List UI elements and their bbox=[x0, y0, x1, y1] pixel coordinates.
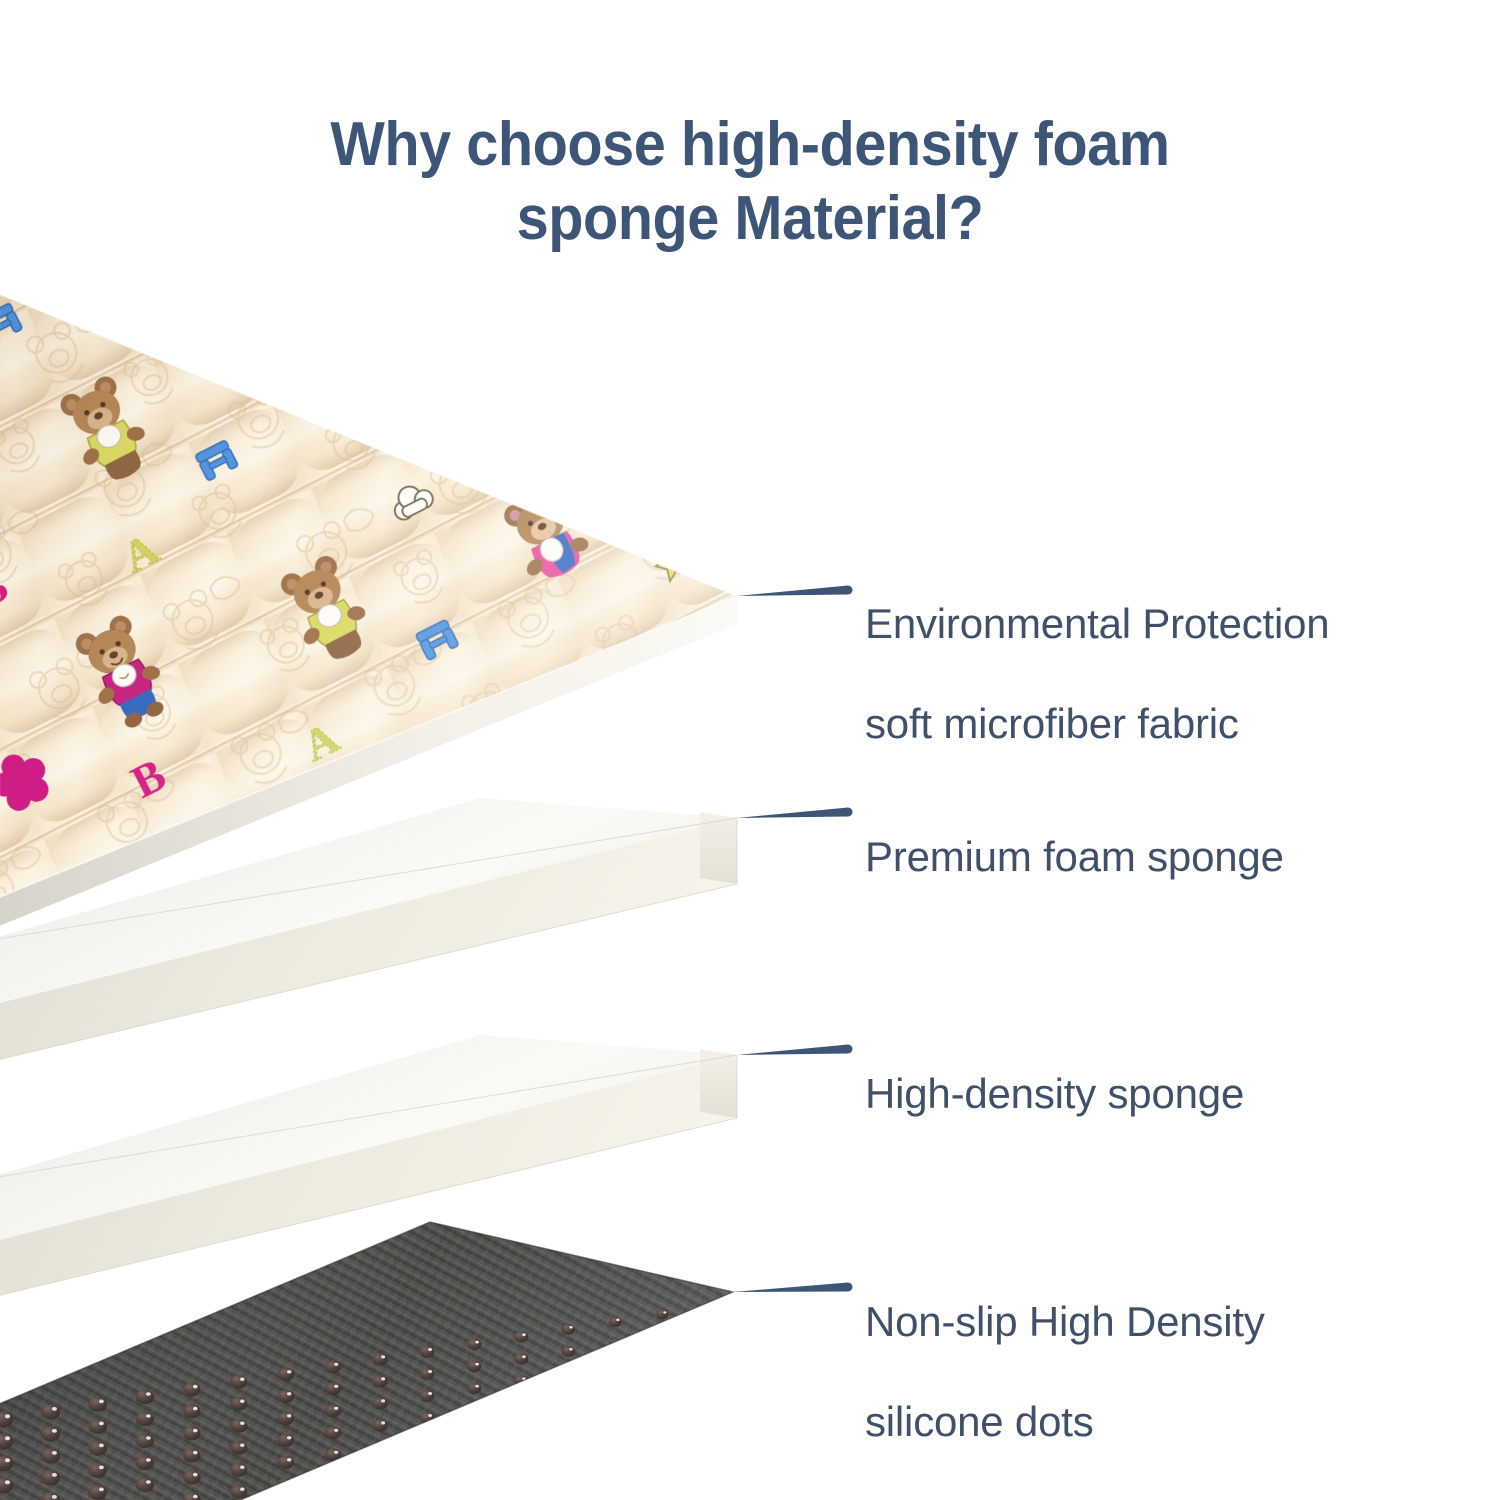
silicone-dot-highlight bbox=[5, 1414, 10, 1418]
leader-line-cap-fabric bbox=[844, 586, 853, 595]
silicone-dot bbox=[562, 1434, 575, 1445]
silicone-dot-highlight bbox=[616, 1319, 619, 1322]
silicone-dot-highlight bbox=[710, 1304, 713, 1306]
callout-line: silicone dots bbox=[865, 1397, 1265, 1447]
silicone-dot bbox=[420, 1390, 435, 1402]
silicone-dot-highlight bbox=[616, 1429, 619, 1432]
silicone-dot bbox=[88, 1485, 107, 1500]
silicone-dot bbox=[230, 1485, 247, 1499]
silicone-dot-highlight bbox=[475, 1341, 479, 1344]
silicone-dot-highlight bbox=[334, 1495, 338, 1498]
silicone-dot-highlight bbox=[5, 1480, 10, 1484]
silicone-dot bbox=[278, 1478, 295, 1491]
silicone-dot bbox=[609, 1317, 622, 1327]
silicone-dot-highlight bbox=[240, 1378, 244, 1381]
silicone-dot bbox=[562, 1412, 575, 1423]
silicone-dot bbox=[183, 1426, 201, 1440]
silicone-dot-highlight bbox=[475, 1363, 479, 1366]
silicone-dot bbox=[420, 1368, 435, 1380]
silicone-dot bbox=[278, 1456, 295, 1469]
silicone-dot bbox=[467, 1383, 481, 1395]
callout-line: soft microfiber fabric bbox=[865, 699, 1329, 749]
silicone-dot-highlight bbox=[381, 1465, 385, 1468]
silicone-dot bbox=[88, 1441, 107, 1456]
silicone-dot bbox=[183, 1382, 201, 1396]
silicone-dot bbox=[467, 1339, 481, 1351]
silicone-dot bbox=[656, 1353, 668, 1363]
silicone-dot-highlight bbox=[381, 1355, 385, 1358]
silicone-dot bbox=[230, 1419, 247, 1433]
silicone-dot-highlight bbox=[193, 1385, 198, 1389]
silicone-dot bbox=[230, 1375, 247, 1389]
silicone-dot-highlight bbox=[428, 1436, 432, 1439]
silicone-dot-highlight bbox=[710, 1480, 713, 1482]
callout-label-silicone-dots: Non-slip High Density silicone dots bbox=[865, 1247, 1265, 1497]
silicone-dot-highlight bbox=[569, 1370, 572, 1373]
silicone-dot-highlight bbox=[475, 1385, 479, 1388]
silicone-dot bbox=[514, 1463, 528, 1474]
silicone-dot-highlight bbox=[52, 1451, 57, 1455]
leader-line-cap-silicone-dots bbox=[844, 1283, 853, 1292]
silicone-dot bbox=[136, 1412, 154, 1427]
silicone-dot bbox=[372, 1485, 388, 1497]
callout-label-microfiber-fabric: Environmental Protection soft microfiber… bbox=[865, 549, 1329, 799]
silicone-dot-highlight bbox=[428, 1370, 432, 1373]
silicone-dot bbox=[704, 1368, 716, 1377]
silicone-dot-highlight bbox=[287, 1414, 291, 1417]
silicone-dot bbox=[88, 1397, 107, 1412]
silicone-dot bbox=[420, 1412, 435, 1424]
silicone-dot bbox=[88, 1419, 107, 1434]
silicone-dot bbox=[514, 1419, 528, 1430]
leader-line-cap-high-density-foam bbox=[844, 1045, 853, 1054]
silicone-dot bbox=[609, 1471, 622, 1481]
silicone-dot bbox=[325, 1426, 341, 1439]
silicone-dot bbox=[136, 1434, 154, 1449]
silicone-dot-highlight bbox=[381, 1421, 385, 1424]
silicone-dot bbox=[704, 1390, 716, 1399]
silicone-dot-highlight bbox=[710, 1348, 713, 1350]
silicone-dot-highlight bbox=[52, 1473, 57, 1477]
leader-line-high-density-foam bbox=[737, 1045, 848, 1056]
silicone-dot bbox=[41, 1448, 60, 1463]
silicone-dot-highlight bbox=[663, 1355, 666, 1357]
silicone-dot-highlight bbox=[522, 1355, 526, 1358]
silicone-dot-highlight bbox=[475, 1495, 479, 1498]
silicone-dot-highlight bbox=[522, 1421, 526, 1424]
silicone-dot-highlight bbox=[475, 1473, 479, 1476]
silicone-dot bbox=[704, 1346, 716, 1355]
silicone-dot-highlight bbox=[616, 1495, 619, 1498]
silicone-dot bbox=[467, 1427, 481, 1439]
silicone-dot-highlight bbox=[475, 1407, 479, 1410]
silicone-dot bbox=[136, 1478, 154, 1493]
silicone-dot-highlight bbox=[616, 1363, 619, 1366]
infographic-canvas: Why choose high-density foam sponge Mate… bbox=[0, 0, 1500, 1500]
silicone-dot bbox=[514, 1485, 528, 1496]
silicone-dot-highlight bbox=[616, 1407, 619, 1410]
silicone-dot-highlight bbox=[99, 1400, 104, 1404]
silicone-dot-highlight bbox=[287, 1370, 291, 1373]
silicone-dot-highlight bbox=[522, 1443, 526, 1446]
silicone-dot-highlight bbox=[428, 1480, 432, 1483]
silicone-dot bbox=[278, 1434, 295, 1447]
silicone-dot bbox=[325, 1470, 341, 1483]
silicone-dot-highlight bbox=[616, 1451, 619, 1454]
silicone-dot bbox=[467, 1405, 481, 1417]
page-title: Why choose high-density foam sponge Mate… bbox=[0, 108, 1500, 256]
silicone-dot-highlight bbox=[428, 1414, 432, 1417]
silicone-dot bbox=[325, 1492, 341, 1500]
silicone-dot bbox=[183, 1404, 201, 1418]
silicone-dot bbox=[562, 1324, 575, 1335]
silicone-dot-highlight bbox=[5, 1436, 10, 1440]
silicone-dot bbox=[704, 1456, 716, 1465]
silicone-dot-highlight bbox=[663, 1443, 666, 1445]
silicone-dot-highlight bbox=[522, 1487, 526, 1490]
callout-line: High-density sponge bbox=[865, 1069, 1244, 1119]
silicone-dot bbox=[230, 1463, 247, 1477]
silicone-dot-highlight bbox=[240, 1444, 244, 1447]
silicone-dot bbox=[467, 1449, 481, 1461]
silicone-dot-highlight bbox=[99, 1466, 104, 1470]
silicone-dot bbox=[704, 1478, 716, 1487]
silicone-dot bbox=[88, 1463, 107, 1478]
page-title-line-1: Why choose high-density foam bbox=[53, 108, 1448, 182]
silicone-dot-highlight bbox=[5, 1458, 10, 1462]
silicone-dot-highlight bbox=[522, 1333, 526, 1336]
silicone-dot-highlight bbox=[334, 1451, 338, 1454]
silicone-dot-highlight bbox=[334, 1473, 338, 1476]
silicone-dot-highlight bbox=[569, 1326, 572, 1329]
silicone-dot-highlight bbox=[334, 1363, 338, 1366]
silicone-dot-highlight bbox=[710, 1326, 713, 1328]
silicone-dot bbox=[562, 1346, 575, 1357]
silicone-dot bbox=[41, 1404, 60, 1419]
silicone-dot-highlight bbox=[381, 1443, 385, 1446]
silicone-dot bbox=[562, 1390, 575, 1401]
silicone-dot bbox=[136, 1390, 154, 1405]
silicone-dot bbox=[562, 1368, 575, 1379]
silicone-dot bbox=[656, 1419, 668, 1429]
silicone-dot-highlight bbox=[663, 1487, 666, 1489]
silicone-dot-highlight bbox=[99, 1488, 104, 1492]
silicone-dot-highlight bbox=[146, 1392, 151, 1396]
silicone-dot bbox=[514, 1441, 528, 1452]
silicone-dot-highlight bbox=[52, 1429, 57, 1433]
leader-line-cap-premium-foam bbox=[844, 808, 853, 817]
silicone-dot bbox=[609, 1405, 622, 1415]
silicone-dot bbox=[609, 1427, 622, 1437]
silicone-dot-highlight bbox=[193, 1407, 198, 1411]
silicone-dot bbox=[467, 1471, 481, 1483]
silicone-dot bbox=[704, 1412, 716, 1421]
silicone-dot-highlight bbox=[710, 1436, 713, 1438]
silicone-dot-highlight bbox=[663, 1311, 666, 1313]
silicone-dot bbox=[656, 1441, 668, 1451]
silicone-dot bbox=[514, 1397, 528, 1408]
silicone-dot-highlight bbox=[616, 1385, 619, 1388]
silicone-dot-highlight bbox=[287, 1392, 291, 1395]
silicone-dot bbox=[278, 1390, 295, 1403]
silicone-dot bbox=[609, 1361, 622, 1371]
silicone-dot bbox=[372, 1419, 388, 1431]
silicone-dot-highlight bbox=[193, 1451, 198, 1455]
silicone-dot bbox=[514, 1353, 528, 1364]
silicone-dot bbox=[467, 1493, 481, 1500]
silicone-dot-highlight bbox=[334, 1429, 338, 1432]
silicone-dot bbox=[656, 1375, 668, 1385]
silicone-dot bbox=[325, 1404, 341, 1417]
silicone-dot-highlight bbox=[522, 1399, 526, 1402]
silicone-dot-highlight bbox=[99, 1444, 104, 1448]
silicone-dot-highlight bbox=[710, 1458, 713, 1460]
silicone-dot-highlight bbox=[334, 1407, 338, 1410]
silicone-dot bbox=[278, 1412, 295, 1425]
silicone-dot-highlight bbox=[569, 1480, 572, 1483]
page-title-line-2: sponge Material? bbox=[53, 182, 1448, 256]
silicone-dot-highlight bbox=[146, 1414, 151, 1418]
silicone-dot bbox=[372, 1375, 388, 1387]
silicone-dot-highlight bbox=[663, 1333, 666, 1335]
silicone-dot bbox=[136, 1456, 154, 1471]
silicone-dot bbox=[420, 1456, 435, 1468]
silicone-dot-highlight bbox=[475, 1451, 479, 1454]
silicone-dot bbox=[562, 1456, 575, 1467]
silicone-dot-highlight bbox=[146, 1458, 151, 1462]
silicone-dot-highlight bbox=[287, 1436, 291, 1439]
silicone-dot-highlight bbox=[428, 1392, 432, 1395]
leader-line-premium-foam bbox=[737, 808, 848, 819]
silicone-dot-highlight bbox=[428, 1458, 432, 1461]
callout-line: Non-slip High Density bbox=[865, 1297, 1265, 1347]
silicone-dot-highlight bbox=[710, 1392, 713, 1394]
callout-label-premium-foam: Premium foam sponge bbox=[865, 782, 1284, 932]
silicone-dot-highlight bbox=[569, 1392, 572, 1395]
silicone-dot-highlight bbox=[616, 1473, 619, 1476]
silicone-dot-highlight bbox=[52, 1495, 57, 1499]
leader-lines bbox=[733, 586, 853, 1293]
silicone-dot bbox=[656, 1463, 668, 1473]
callout-line: Environmental Protection bbox=[865, 599, 1329, 649]
silicone-dot-highlight bbox=[381, 1487, 385, 1490]
silicone-dot-highlight bbox=[240, 1466, 244, 1469]
silicone-dot-highlight bbox=[475, 1429, 479, 1432]
silicone-dot-highlight bbox=[193, 1473, 198, 1477]
silicone-dot bbox=[420, 1346, 435, 1358]
silicone-dot bbox=[278, 1368, 295, 1381]
silicone-dot-highlight bbox=[193, 1495, 198, 1499]
silicone-dot-highlight bbox=[710, 1414, 713, 1416]
silicone-dot-highlight bbox=[240, 1400, 244, 1403]
silicone-dot-highlight bbox=[381, 1377, 385, 1380]
silicone-dot bbox=[325, 1382, 341, 1395]
silicone-dot bbox=[41, 1470, 60, 1485]
silicone-dot bbox=[704, 1434, 716, 1443]
silicone-dot bbox=[609, 1383, 622, 1393]
silicone-dot-highlight bbox=[240, 1488, 244, 1491]
silicone-dot-highlight bbox=[569, 1436, 572, 1439]
silicone-dot bbox=[609, 1449, 622, 1459]
leader-line-fabric bbox=[737, 586, 848, 597]
silicone-dot-highlight bbox=[334, 1385, 338, 1388]
silicone-dot-highlight bbox=[381, 1399, 385, 1402]
silicone-dot-highlight bbox=[569, 1414, 572, 1417]
silicone-dot bbox=[420, 1434, 435, 1446]
silicone-dot bbox=[467, 1361, 481, 1373]
silicone-dot bbox=[562, 1478, 575, 1489]
silicone-dot-highlight bbox=[663, 1399, 666, 1401]
silicone-dot bbox=[230, 1397, 247, 1411]
silicone-dot-highlight bbox=[663, 1421, 666, 1423]
silicone-dot bbox=[372, 1353, 388, 1365]
silicone-dot bbox=[325, 1360, 341, 1373]
silicone-dot bbox=[514, 1331, 528, 1342]
silicone-dot bbox=[656, 1309, 668, 1319]
silicone-dot-highlight bbox=[287, 1458, 291, 1461]
silicone-dot-highlight bbox=[522, 1465, 526, 1468]
silicone-dot-highlight bbox=[428, 1348, 432, 1351]
silicone-dot bbox=[420, 1478, 435, 1490]
callout-label-high-density-sponge: High-density sponge bbox=[865, 1019, 1244, 1169]
silicone-dot bbox=[183, 1448, 201, 1462]
silicone-dot bbox=[609, 1493, 622, 1500]
silicone-dot-highlight bbox=[569, 1348, 572, 1351]
silicone-dot-highlight bbox=[710, 1370, 713, 1372]
silicone-dot-highlight bbox=[146, 1436, 151, 1440]
silicone-dot bbox=[183, 1470, 201, 1484]
callout-line: Premium foam sponge bbox=[865, 832, 1284, 882]
silicone-dot-highlight bbox=[569, 1458, 572, 1461]
silicone-dot bbox=[41, 1426, 60, 1441]
silicone-dot-highlight bbox=[146, 1480, 151, 1484]
silicone-dot bbox=[656, 1397, 668, 1407]
silicone-dot-highlight bbox=[52, 1407, 57, 1411]
silicone-dot-highlight bbox=[663, 1465, 666, 1467]
silicone-dot bbox=[230, 1441, 247, 1455]
leader-line-silicone-dots bbox=[733, 1283, 848, 1293]
silicone-dot-highlight bbox=[240, 1422, 244, 1425]
silicone-dot bbox=[372, 1463, 388, 1475]
silicone-dot bbox=[656, 1485, 668, 1495]
silicone-dot-highlight bbox=[663, 1377, 666, 1379]
silicone-dot bbox=[656, 1331, 668, 1341]
silicone-dot bbox=[704, 1324, 716, 1333]
silicone-dot-highlight bbox=[193, 1429, 198, 1433]
silicone-dot bbox=[372, 1397, 388, 1409]
silicone-dot-highlight bbox=[99, 1422, 104, 1426]
